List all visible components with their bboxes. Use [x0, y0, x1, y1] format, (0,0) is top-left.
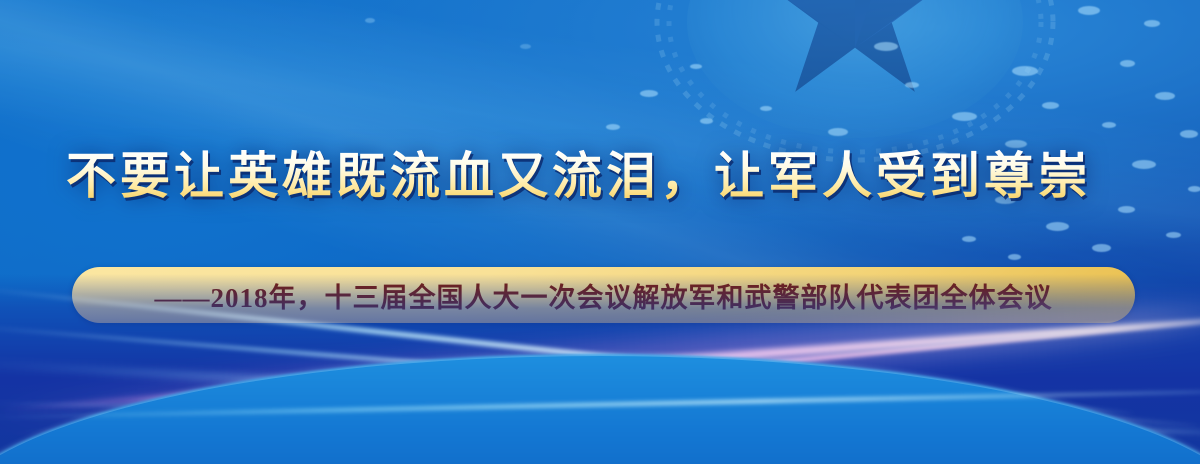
page-title: 不要让英雄既流血又流泪，让军人受到尊崇: [66, 146, 1136, 206]
light-rays-decoration: [0, 274, 1200, 464]
promotional-banner: 不要让英雄既流血又流泪，让军人受到尊崇 ——2018年，十三届全国人大一次会议解…: [0, 0, 1200, 464]
